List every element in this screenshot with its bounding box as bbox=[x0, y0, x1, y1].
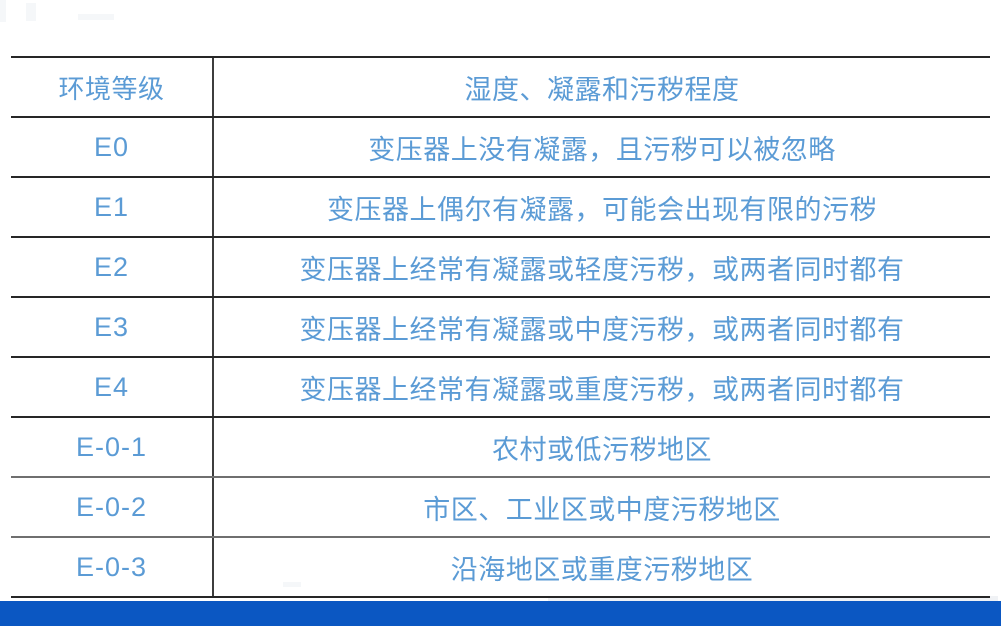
slide-canvas: 环境等级 湿度、凝露和污秽程度 E0 变压器上没有凝露，且污秽可以被忽略 E1 … bbox=[0, 0, 1001, 626]
environment-class-table: 环境等级 湿度、凝露和污秽程度 E0 变压器上没有凝露，且污秽可以被忽略 E1 … bbox=[11, 56, 990, 598]
cell-level: E4 bbox=[11, 358, 212, 416]
table-row: E-0-3 沿海地区或重度污秽地区 bbox=[11, 536, 990, 598]
cell-description: 变压器上经常有凝露或轻度污秽，或两者同时都有 bbox=[212, 238, 990, 296]
header-cell-level: 环境等级 bbox=[11, 58, 212, 116]
table-row: E3 变压器上经常有凝露或中度污秽，或两者同时都有 bbox=[11, 296, 990, 356]
cell-description: 变压器上经常有凝露或重度污秽，或两者同时都有 bbox=[212, 358, 990, 416]
cell-description: 农村或低污秽地区 bbox=[212, 418, 990, 476]
table-row: E-0-1 农村或低污秽地区 bbox=[11, 416, 990, 476]
cell-level: E0 bbox=[11, 118, 212, 176]
cell-level: E-0-1 bbox=[11, 418, 212, 476]
table-row: E-0-2 市区、工业区或中度污秽地区 bbox=[11, 476, 990, 536]
table-row: E1 变压器上偶尔有凝露，可能会出现有限的污秽 bbox=[11, 176, 990, 236]
cell-level: E3 bbox=[11, 298, 212, 356]
table-row: E2 变压器上经常有凝露或轻度污秽，或两者同时都有 bbox=[11, 236, 990, 296]
table-row: E4 变压器上经常有凝露或重度污秽，或两者同时都有 bbox=[11, 356, 990, 416]
bottom-accent-bar bbox=[0, 601, 1001, 626]
scan-artifact bbox=[78, 14, 114, 20]
cell-description: 变压器上经常有凝露或中度污秽，或两者同时都有 bbox=[212, 298, 990, 356]
scan-artifact bbox=[0, 0, 6, 22]
header-cell-description: 湿度、凝露和污秽程度 bbox=[212, 58, 990, 116]
cell-description: 沿海地区或重度污秽地区 bbox=[212, 538, 990, 596]
cell-level: E1 bbox=[11, 178, 212, 236]
cell-description: 市区、工业区或中度污秽地区 bbox=[212, 478, 990, 536]
cell-description: 变压器上没有凝露，且污秽可以被忽略 bbox=[212, 118, 990, 176]
cell-level: E-0-2 bbox=[11, 478, 212, 536]
cell-level: E-0-3 bbox=[11, 538, 212, 596]
scan-artifact bbox=[26, 3, 36, 21]
table-header-row: 环境等级 湿度、凝露和污秽程度 bbox=[11, 56, 990, 116]
cell-level: E2 bbox=[11, 238, 212, 296]
table-row: E0 变压器上没有凝露，且污秽可以被忽略 bbox=[11, 116, 990, 176]
cell-description: 变压器上偶尔有凝露，可能会出现有限的污秽 bbox=[212, 178, 990, 236]
